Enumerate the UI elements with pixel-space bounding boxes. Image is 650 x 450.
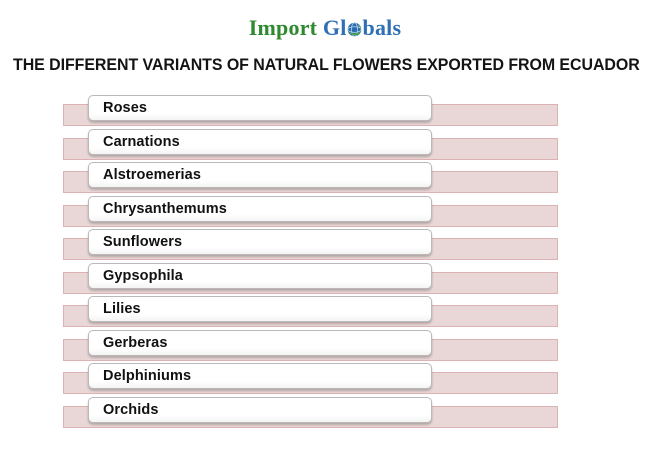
list-item[interactable]: Carnations [0, 129, 650, 163]
list-item-label: Lilies [103, 297, 141, 323]
brand-logo: Import Glbals [0, 14, 650, 42]
row-card[interactable]: Roses [88, 95, 432, 121]
row-card[interactable]: Orchids [88, 397, 432, 423]
list-item[interactable]: Roses [0, 95, 650, 129]
list-item[interactable]: Orchids [0, 397, 650, 431]
list-item[interactable]: Sunflowers [0, 229, 650, 263]
list-item[interactable]: Chrysanthemums [0, 196, 650, 230]
row-card[interactable]: Chrysanthemums [88, 196, 432, 222]
list-item-label: Chrysanthemums [103, 197, 227, 223]
list-item-label: Gypsophila [103, 264, 183, 290]
list-item[interactable]: Alstroemerias [0, 162, 650, 196]
row-card[interactable]: Gerberas [88, 330, 432, 356]
brand-word-globals-suffix: bals [363, 15, 402, 40]
list-item-label: Roses [103, 96, 147, 122]
list-item[interactable]: Lilies [0, 296, 650, 330]
flower-variant-list: Roses Carnations Alstroemerias Chrysanth… [0, 95, 650, 430]
row-card[interactable]: Delphiniums [88, 363, 432, 389]
list-item-label: Alstroemerias [103, 163, 201, 189]
brand-word-import: Import [249, 15, 317, 40]
list-item-label: Orchids [103, 398, 159, 424]
row-card[interactable]: Sunflowers [88, 229, 432, 255]
row-card[interactable]: Gypsophila [88, 263, 432, 289]
list-item-label: Carnations [103, 130, 180, 156]
list-item[interactable]: Delphiniums [0, 363, 650, 397]
list-item[interactable]: Gerberas [0, 330, 650, 364]
row-card[interactable]: Lilies [88, 296, 432, 322]
row-card[interactable]: Alstroemerias [88, 162, 432, 188]
list-item-label: Delphiniums [103, 364, 191, 390]
row-card[interactable]: Carnations [88, 129, 432, 155]
list-item[interactable]: Gypsophila [0, 263, 650, 297]
page-title: THE DIFFERENT VARIANTS OF NATURAL FLOWER… [13, 54, 628, 76]
list-item-label: Sunflowers [103, 230, 182, 256]
brand-word-globals-prefix: Gl [323, 15, 347, 40]
list-item-label: Gerberas [103, 331, 167, 357]
globe-icon [347, 22, 362, 37]
